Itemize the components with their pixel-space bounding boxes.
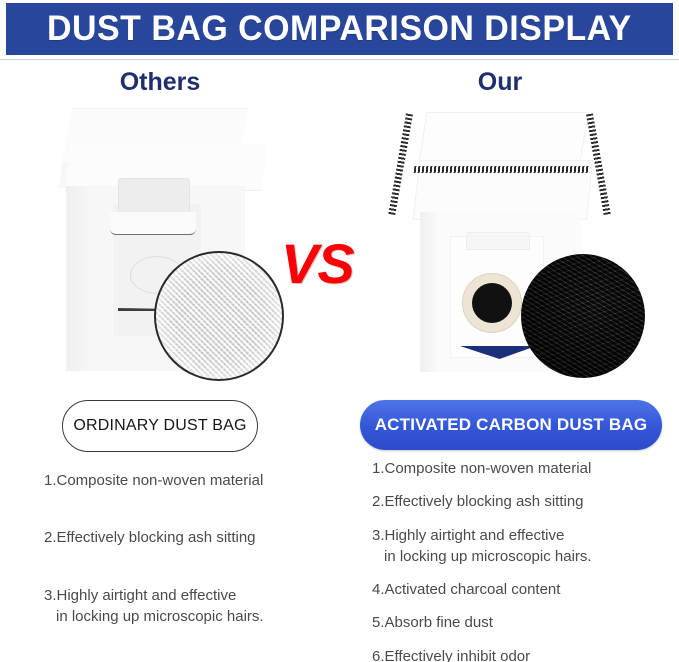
ordinary-dust-bag-badge: ORDINARY DUST BAG [62, 400, 258, 452]
banner-divider [0, 59, 679, 60]
feature-text: 3.Highly airtight and effective [372, 527, 564, 544]
feature-list-item: 1.Composite non-woven material [44, 470, 344, 491]
bag-inlet-hole [472, 283, 512, 323]
feature-text: 2.Effectively blocking ash sitting [44, 529, 256, 546]
feature-text: 5.Absorb fine dust [372, 614, 493, 631]
black-carbon-fabric-swatch-icon [521, 254, 645, 378]
feature-text-continuation: in locking up microscopic hairs. [44, 606, 344, 627]
feature-list-item: 6.Effectively inhibit odor [372, 646, 662, 662]
feature-list-item: 3.Highly airtight and effectivein lockin… [372, 525, 662, 568]
feature-text: 6.Effectively inhibit odor [372, 648, 530, 662]
page-title: DUST BAG COMPARISON DISPLAY [47, 9, 632, 49]
comparison-infographic: DUST BAG COMPARISON DISPLAY Others Our V… [0, 0, 679, 662]
feature-text: 1.Composite non-woven material [372, 460, 591, 477]
feature-list-item: 1.Composite non-woven material [372, 458, 662, 479]
feature-list-item: 3.Highly airtight and effectivein lockin… [44, 585, 344, 628]
bag-notch [110, 212, 196, 235]
ordinary-dust-bag-badge-label: ORDINARY DUST BAG [73, 417, 246, 435]
bag-body-shadow [66, 186, 92, 371]
feature-list-item: 2.Effectively blocking ash sitting [372, 491, 662, 512]
versus-label: VS [281, 236, 354, 292]
stitched-seam-left [388, 113, 413, 215]
activated-carbon-dust-bag-badge-label: ACTIVATED CARBON DUST BAG [375, 415, 648, 435]
feature-text: 4.Activated charcoal content [372, 581, 560, 598]
feature-text-continuation: in locking up microscopic hairs. [372, 546, 662, 567]
stitched-seam-horizontal [414, 166, 591, 173]
feature-list-item: 4.Activated charcoal content [372, 579, 662, 600]
header-banner: DUST BAG COMPARISON DISPLAY [6, 3, 673, 55]
feature-text: 2.Effectively blocking ash sitting [372, 493, 584, 510]
feature-text: 3.Highly airtight and effective [44, 587, 236, 604]
activated-carbon-dust-bag-badge: ACTIVATED CARBON DUST BAG [360, 400, 662, 450]
feature-text: 1.Composite non-woven material [44, 472, 263, 489]
column-heading-others: Others [60, 68, 260, 97]
feature-list-item: 5.Absorb fine dust [372, 612, 662, 633]
activated-carbon-feature-list: 1.Composite non-woven material2.Effectiv… [372, 458, 662, 662]
feature-list-item: 2.Effectively blocking ash sitting [44, 527, 344, 548]
bag-inlet-ring [462, 273, 522, 333]
column-heading-our: Our [400, 68, 600, 97]
bag-top-tab [466, 232, 530, 250]
white-fabric-swatch-icon [154, 251, 284, 381]
bag-body-shadow [420, 212, 440, 372]
ordinary-feature-list: 1.Composite non-woven material2.Effectiv… [44, 470, 344, 662]
